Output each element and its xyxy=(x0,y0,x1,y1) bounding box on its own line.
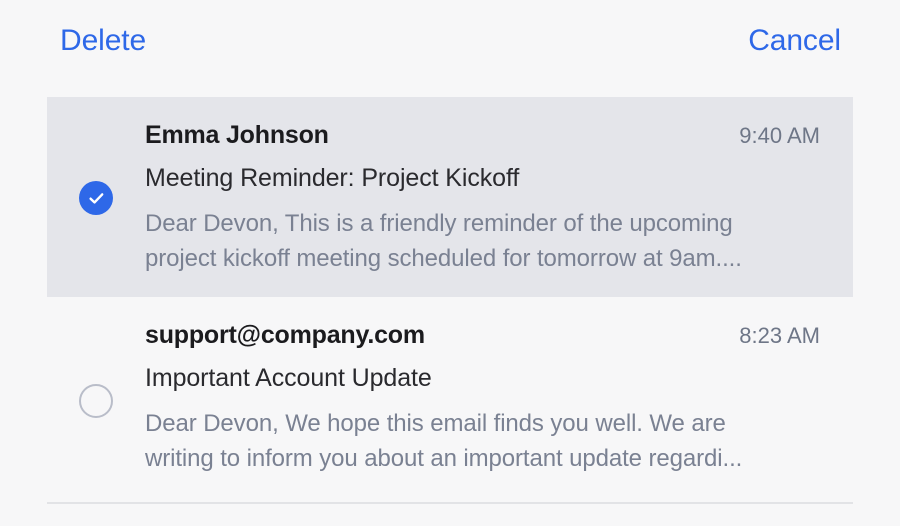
email-sender: support@company.com xyxy=(145,321,425,351)
circle-outline-icon[interactable] xyxy=(79,384,113,418)
email-preview: Dear Devon, We hope this email finds you… xyxy=(145,406,820,476)
email-selection-screen: Delete Cancel Emma Johnson 9:40 AM Meeti… xyxy=(0,0,900,526)
email-preview-line: Dear Devon, This is a friendly reminder … xyxy=(145,206,820,241)
check-circle-filled-icon[interactable] xyxy=(79,181,113,215)
email-preview-line: project kickoff meeting scheduled for to… xyxy=(145,241,820,276)
email-sender: Emma Johnson xyxy=(145,121,329,151)
delete-button[interactable]: Delete xyxy=(58,22,148,60)
email-list-item[interactable]: Emma Johnson 9:40 AM Meeting Reminder: P… xyxy=(47,97,853,297)
email-subject: Important Account Update xyxy=(145,364,820,394)
email-timestamp: 8:23 AM xyxy=(739,323,820,349)
email-preview: Dear Devon, This is a friendly reminder … xyxy=(145,206,820,276)
email-list: Emma Johnson 9:40 AM Meeting Reminder: P… xyxy=(47,97,853,502)
email-timestamp: 9:40 AM xyxy=(739,123,820,149)
email-subject: Meeting Reminder: Project Kickoff xyxy=(145,164,820,194)
cancel-button[interactable]: Cancel xyxy=(746,22,843,60)
email-item-header: Emma Johnson 9:40 AM xyxy=(145,121,820,151)
email-item-content: support@company.com 8:23 AM Important Ac… xyxy=(145,297,853,476)
selection-toolbar: Delete Cancel xyxy=(0,0,900,82)
email-item-content: Emma Johnson 9:40 AM Meeting Reminder: P… xyxy=(145,97,853,276)
selection-checkbox-cell xyxy=(47,297,145,502)
email-preview-line: writing to inform you about an important… xyxy=(145,441,820,476)
email-preview-line: Dear Devon, We hope this email finds you… xyxy=(145,406,820,441)
list-bottom-divider xyxy=(47,502,853,504)
email-list-item[interactable]: support@company.com 8:23 AM Important Ac… xyxy=(47,297,853,502)
selection-checkbox-cell xyxy=(47,97,145,297)
email-item-header: support@company.com 8:23 AM xyxy=(145,321,820,351)
